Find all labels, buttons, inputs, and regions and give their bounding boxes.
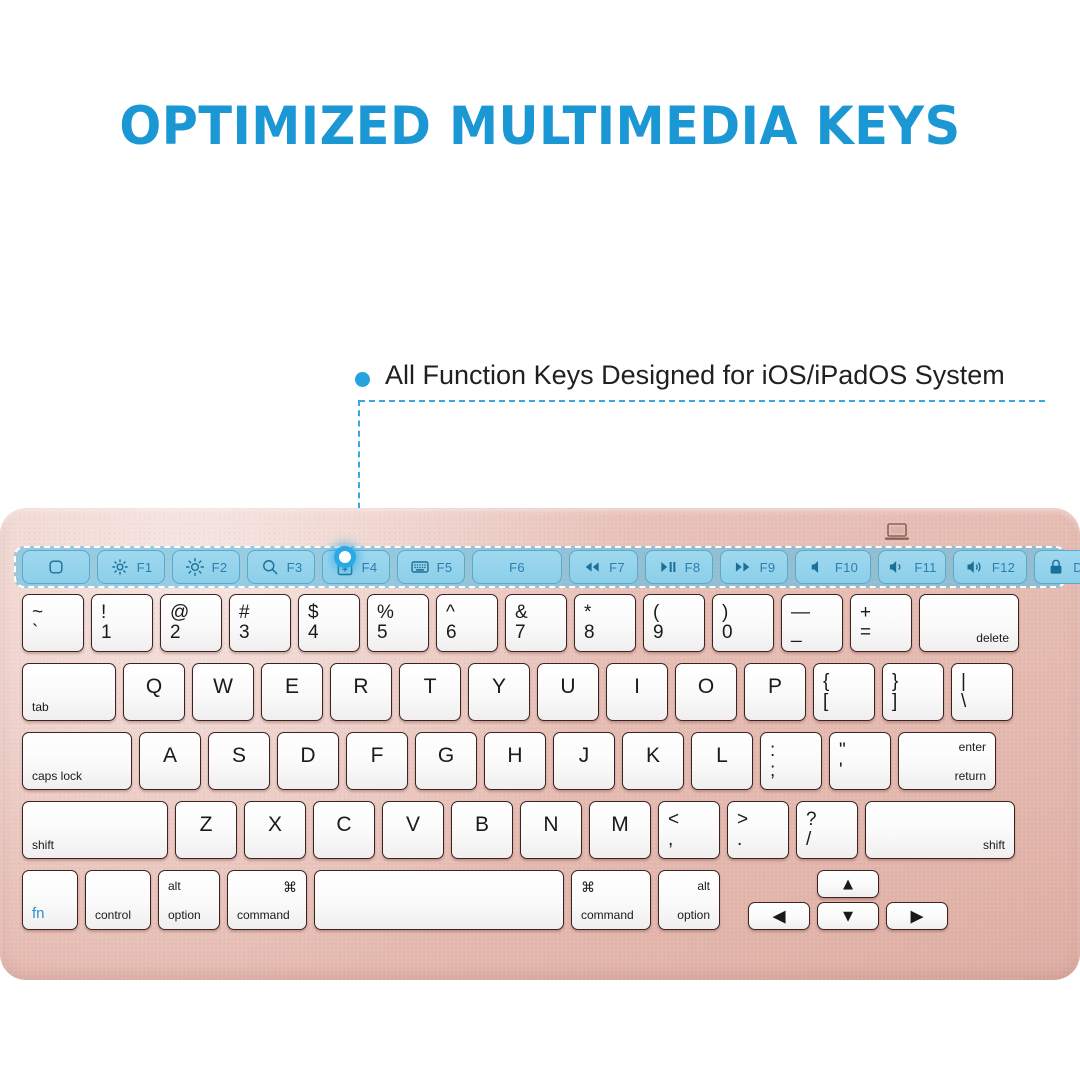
function-key-f10[interactable]: F10 (795, 550, 871, 584)
key-label: 2 (170, 623, 181, 642)
function-key-label: F12 (992, 560, 1015, 575)
key-label: ' (839, 761, 843, 780)
key-label: = (860, 623, 871, 642)
key-label: ! (101, 603, 106, 622)
command-glyph-icon: ⌘ (283, 880, 297, 894)
function-key-f6[interactable]: F6 (472, 550, 562, 584)
key-alt-option-left[interactable]: altoption (158, 870, 220, 930)
home-square-icon (46, 557, 66, 577)
key-label: caps lock (32, 770, 82, 782)
qwerty-key-row: tabQWERTYUIOP{[}]|\ (22, 663, 1020, 721)
key-9[interactable]: (9 (643, 594, 705, 652)
key-label: shift (32, 839, 54, 851)
key-label: C (336, 814, 351, 835)
key-0[interactable]: )0 (712, 594, 774, 652)
key-6[interactable]: ^6 (436, 594, 498, 652)
key-label: / (806, 830, 811, 849)
number-key-row: ~`!1@2#3$4%5^6&7*8(9)0—_+=delete (22, 594, 1026, 652)
function-key-f9[interactable]: F9 (720, 550, 788, 584)
key-label: J (579, 745, 590, 766)
key-y[interactable]: Y (468, 663, 530, 721)
key-label: } (892, 672, 898, 691)
function-key-home[interactable] (22, 550, 90, 584)
key-label: % (377, 603, 394, 622)
key-b[interactable]: B (451, 801, 513, 859)
key-label: option (168, 909, 201, 921)
key-o[interactable]: O (675, 663, 737, 721)
key-label: | (961, 672, 966, 691)
key-command-right[interactable]: ⌘command (571, 870, 651, 930)
key-label: $ (308, 603, 319, 622)
onscreen-keyboard-icon (410, 557, 430, 577)
command-glyph-icon: ⌘ (581, 880, 595, 894)
arrow-left-icon: ◀ (772, 908, 785, 925)
home-key-row: caps lockASDFGHJKL:;"'enterreturn (22, 732, 1003, 790)
function-key-label: F11 (914, 560, 936, 575)
function-key-label: F8 (685, 560, 701, 575)
key-fn[interactable]: fn (22, 870, 78, 930)
function-key-label: F2 (212, 560, 228, 575)
key-1[interactable]: !1 (91, 594, 153, 652)
function-key-label: F6 (509, 560, 525, 575)
key-label: B (475, 814, 489, 835)
key-label: fn (32, 906, 45, 921)
key-label: Y (492, 676, 506, 697)
volume-down-icon (887, 557, 907, 577)
arrow-up-icon: ▲ (840, 876, 857, 893)
key-i[interactable]: I (606, 663, 668, 721)
key-label-return: return (955, 770, 986, 782)
key-label: V (406, 814, 420, 835)
key-8[interactable]: *8 (574, 594, 636, 652)
search-icon (260, 557, 280, 577)
key-label: ` (32, 623, 38, 642)
key-spacebar[interactable] (314, 870, 564, 930)
function-key-label: F1 (137, 560, 153, 575)
function-key-f3[interactable]: F3 (247, 550, 315, 584)
key-label: W (213, 676, 233, 697)
key-label: control (95, 909, 131, 921)
bottom-key-row: fncontrolaltoption⌘command⌘commandaltopt… (22, 870, 948, 930)
key-label: T (424, 676, 437, 697)
key-label: I (634, 676, 640, 697)
key-label: D (300, 745, 315, 766)
arrow-right-icon: ▶ (910, 908, 923, 925)
key-a[interactable]: A (139, 732, 201, 790)
key-label: . (737, 830, 742, 849)
key-label: N (543, 814, 558, 835)
key-label: H (507, 745, 522, 766)
key-key[interactable]: ?/ (796, 801, 858, 859)
key-key[interactable]: += (850, 594, 912, 652)
key-z[interactable]: Z (175, 801, 237, 859)
key-label: Q (146, 676, 162, 697)
key-label-enter: enter (959, 741, 986, 753)
play-pause-icon (658, 557, 678, 577)
key-key[interactable]: —_ (781, 594, 843, 652)
key-label: \ (961, 692, 966, 711)
key-label: & (515, 603, 528, 622)
f4-highlight-marker (334, 546, 356, 568)
lock-icon (1046, 557, 1066, 577)
arrow-up-down-stack: ▲▼ (817, 870, 879, 930)
key-key[interactable]: >. (727, 801, 789, 859)
function-key-f2[interactable]: F2 (172, 550, 240, 584)
key-label: ; (770, 761, 775, 780)
key-shift-left[interactable]: shift (22, 801, 168, 859)
key-key[interactable]: |\ (951, 663, 1013, 721)
key-g[interactable]: G (415, 732, 477, 790)
key-caps-lock[interactable]: caps lock (22, 732, 132, 790)
key-shift-right[interactable]: shift (865, 801, 1015, 859)
key-label: A (163, 745, 177, 766)
key-k[interactable]: K (622, 732, 684, 790)
function-key-del[interactable]: Del (1034, 550, 1080, 584)
key-label: P (768, 676, 782, 697)
callout-underline (359, 400, 1045, 402)
function-key-label: F9 (760, 560, 776, 575)
key-label: ~ (32, 603, 43, 622)
key-label: option (677, 909, 710, 921)
key-t[interactable]: T (399, 663, 461, 721)
callout: All Function Keys Designed for iOS/iPadO… (355, 360, 1045, 408)
key-label: " (839, 741, 846, 760)
key-label: @ (170, 603, 189, 622)
key-label: , (668, 830, 673, 849)
bullet-dot-icon (355, 372, 370, 387)
key-q[interactable]: Q (123, 663, 185, 721)
key-label: X (268, 814, 282, 835)
function-key-f12[interactable]: F12 (953, 550, 1027, 584)
key-h[interactable]: H (484, 732, 546, 790)
key-label: O (698, 676, 714, 697)
callout-text: All Function Keys Designed for iOS/iPadO… (385, 360, 1005, 391)
function-key-f8[interactable]: F8 (645, 550, 713, 584)
function-key-f7[interactable]: F7 (569, 550, 638, 584)
key-label: 0 (722, 623, 733, 642)
key-label: command (237, 909, 290, 921)
key-label: U (560, 676, 575, 697)
key-label: 6 (446, 623, 457, 642)
key-x[interactable]: X (244, 801, 306, 859)
brightness-down-icon (110, 557, 130, 577)
key-control[interactable]: control (85, 870, 151, 930)
key-label: tab (32, 701, 49, 713)
key-key[interactable]: }] (882, 663, 944, 721)
key-arrow-right[interactable]: ▶ (886, 902, 948, 930)
key-3[interactable]: #3 (229, 594, 291, 652)
key-key[interactable]: <, (658, 801, 720, 859)
key-s[interactable]: S (208, 732, 270, 790)
arrow-down-icon: ▼ (840, 908, 857, 925)
function-key-f5[interactable]: F5 (397, 550, 465, 584)
key-v[interactable]: V (382, 801, 444, 859)
function-key-label: F4 (362, 560, 378, 575)
function-key-label: Del (1073, 560, 1080, 575)
key-label: delete (976, 632, 1009, 644)
key-label: G (438, 745, 454, 766)
key-enter-return[interactable]: enterreturn (898, 732, 996, 790)
key-label: Z (200, 814, 213, 835)
key-4[interactable]: $4 (298, 594, 360, 652)
key-label: ] (892, 692, 897, 711)
key-label: — (791, 603, 810, 622)
key-c[interactable]: C (313, 801, 375, 859)
key-label: ? (806, 810, 817, 829)
key-alt-option-right[interactable]: altoption (658, 870, 720, 930)
key-tab[interactable]: tab (22, 663, 116, 721)
key-label: : (770, 741, 775, 760)
key-label: F (371, 745, 384, 766)
key-p[interactable]: P (744, 663, 806, 721)
key-label: K (646, 745, 660, 766)
key-label: L (716, 745, 728, 766)
function-key-label: F7 (609, 560, 625, 575)
key-command-left[interactable]: ⌘command (227, 870, 307, 930)
key-label: + (860, 603, 871, 622)
key-label: command (581, 909, 634, 921)
key-e[interactable]: E (261, 663, 323, 721)
key-label: _ (791, 623, 802, 642)
key-7[interactable]: &7 (505, 594, 567, 652)
function-key-label: F3 (287, 560, 303, 575)
key-label: > (737, 810, 748, 829)
key-j[interactable]: J (553, 732, 615, 790)
key-2[interactable]: @2 (160, 594, 222, 652)
brightness-up-icon (185, 557, 205, 577)
function-key-f4[interactable]: F4 (322, 550, 390, 584)
key-n[interactable]: N (520, 801, 582, 859)
function-key-f11[interactable]: F11 (878, 550, 946, 584)
key-label: [ (823, 692, 828, 711)
mute-icon (808, 557, 828, 577)
key-label: S (232, 745, 246, 766)
key-label: < (668, 810, 679, 829)
key-label: 3 (239, 623, 250, 642)
key-label: E (285, 676, 299, 697)
key-label: ^ (446, 603, 455, 622)
key-label: alt (168, 880, 181, 892)
key-f[interactable]: F (346, 732, 408, 790)
key-label: 9 (653, 623, 664, 642)
laptop-screen-icon (884, 522, 910, 542)
key-key[interactable]: "' (829, 732, 891, 790)
shift-key-row: shiftZXCVBNM<,>.?/shift (22, 801, 1022, 859)
key-label: ) (722, 603, 728, 622)
key-arrow-up[interactable]: ▲ (817, 870, 879, 898)
key-label: * (584, 603, 591, 622)
key-label: # (239, 603, 250, 622)
page-title: OPTIMIZED MULTIMEDIA KEYS (38, 96, 1042, 157)
key-key[interactable]: ~` (22, 594, 84, 652)
fast-forward-icon (733, 557, 753, 577)
key-key[interactable]: {[ (813, 663, 875, 721)
key-label: 5 (377, 623, 388, 642)
key-5[interactable]: %5 (367, 594, 429, 652)
function-key-label: F5 (437, 560, 453, 575)
key-d[interactable]: D (277, 732, 339, 790)
key-r[interactable]: R (330, 663, 392, 721)
key-label: 4 (308, 623, 319, 642)
key-w[interactable]: W (192, 663, 254, 721)
volume-up-icon (965, 557, 985, 577)
function-key-f1[interactable]: F1 (97, 550, 165, 584)
key-key[interactable]: :; (760, 732, 822, 790)
key-l[interactable]: L (691, 732, 753, 790)
function-key-label: F10 (835, 560, 858, 575)
key-label: 8 (584, 623, 595, 642)
key-label: M (611, 814, 629, 835)
key-label: shift (983, 839, 1005, 851)
key-label: alt (697, 880, 710, 892)
key-arrow-down[interactable]: ▼ (817, 902, 879, 930)
function-key-row: F1F2F3F4F5F6F7F8F9F10F11F12Del (22, 550, 1080, 584)
key-u[interactable]: U (537, 663, 599, 721)
key-m[interactable]: M (589, 801, 651, 859)
rewind-icon (582, 557, 602, 577)
key-label: { (823, 672, 829, 691)
key-label: R (353, 676, 368, 697)
key-label: ( (653, 603, 659, 622)
key-label: 7 (515, 623, 526, 642)
key-arrow-left[interactable]: ◀ (748, 902, 810, 930)
key-delete[interactable]: delete (919, 594, 1019, 652)
key-label: 1 (101, 623, 112, 642)
